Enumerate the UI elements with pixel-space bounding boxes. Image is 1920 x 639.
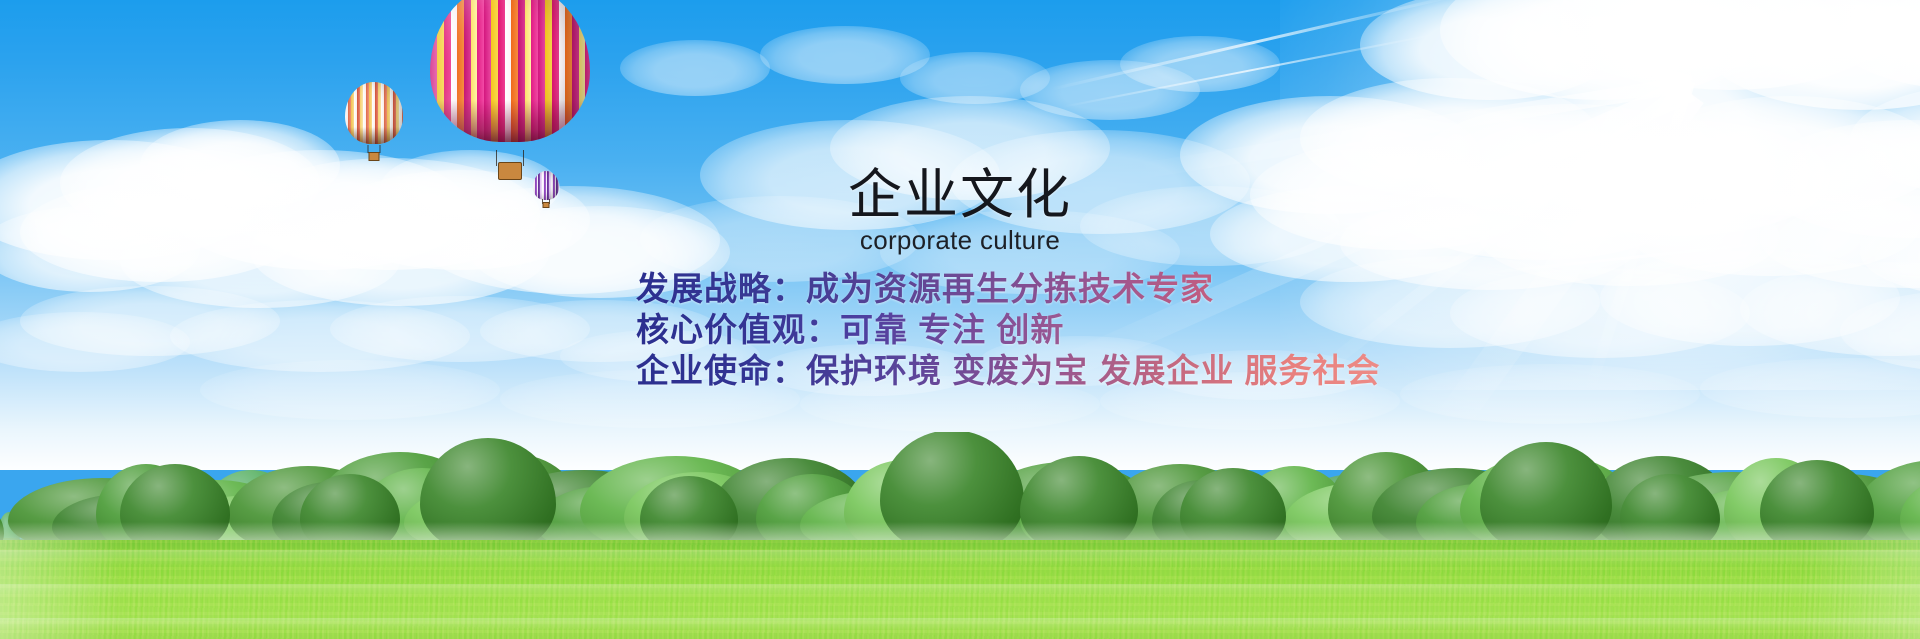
grass-mow-stripe <box>0 584 1920 598</box>
corporate-culture-banner: 企业文化 corporate culture 发展战略：成为资源再生分拣技术专家… <box>0 0 1920 639</box>
balloon-basket <box>543 202 550 208</box>
grass-edge-light <box>1800 540 1920 639</box>
sky-background <box>0 0 1920 470</box>
balloon-envelope <box>345 82 403 144</box>
grass-mow-stripe <box>0 550 1920 566</box>
grass-mow-stripe <box>0 618 1920 630</box>
grass-field <box>0 540 1920 639</box>
medium-balloon-icon <box>345 82 403 156</box>
balloon-envelope <box>430 0 590 142</box>
treeline <box>0 432 1920 552</box>
balloon-basket <box>498 162 522 180</box>
large-balloon-icon <box>430 0 590 172</box>
grass-edge-light <box>0 540 120 639</box>
small-balloon-icon <box>533 171 559 205</box>
balloon-envelope <box>533 171 559 200</box>
balloon-basket <box>369 152 380 161</box>
